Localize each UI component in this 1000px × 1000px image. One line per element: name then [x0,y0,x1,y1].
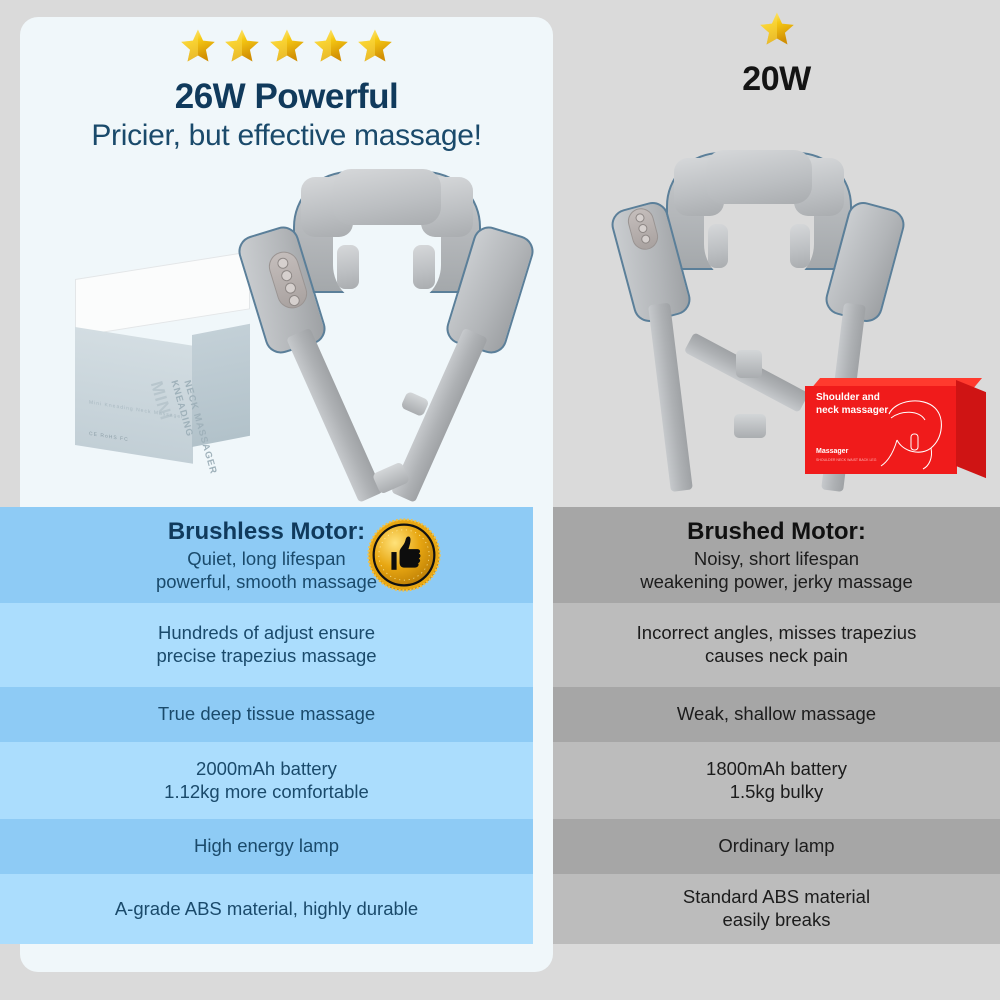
gold-star-icon [268,27,306,65]
product-box-right: Shoulder and neck massager Massager SHOU… [805,378,995,478]
row-text: A-grade ABS material, highly durable [99,898,434,921]
left-header: 26W Powerful Pricier, but effective mass… [20,27,553,153]
table-row: High energy lamp [0,819,533,874]
gold-star-icon [223,27,261,65]
heat-button[interactable] [284,281,298,295]
table-row: A-grade ABS material, highly durable [0,874,533,944]
row-text: Incorrect angles, misses trapezius cause… [621,622,933,667]
left-title: 26W Powerful [20,77,553,117]
row-text: Brushless Motor: Quiet, long lifespan po… [140,517,393,593]
right-star-rating [553,10,1000,56]
row-text: Hundreds of adjust ensure precise trapez… [140,622,392,667]
table-row: 2000mAh battery 1.12kg more comfortable [0,742,533,819]
table-row: Ordinary lamp [553,819,1000,874]
thumbs-up-badge-icon [367,518,441,592]
mode-button[interactable] [280,269,294,283]
power-button-right[interactable] [635,212,646,223]
table-row: True deep tissue massage [0,687,533,742]
row-text: High energy lamp [178,835,355,858]
right-title: 20W [553,60,1000,99]
row-text: Weak, shallow massage [661,703,892,726]
table-row: Brushed Motor: Noisy, short lifespan wea… [553,507,1000,603]
gold-star-icon [758,10,796,48]
gold-star-icon [179,27,217,65]
row-text: Brushed Motor: Noisy, short lifespan wea… [624,517,929,593]
row-text: 1800mAh battery 1.5kg bulky [690,758,863,803]
left-star-rating [20,27,553,73]
table-row: Standard ABS material easily breaks [553,874,1000,944]
gold-star-icon [312,27,350,65]
massager-device-left [245,167,535,512]
left-subtitle: Pricier, but effective massage! [20,119,553,153]
row-text: Ordinary lamp [702,835,850,858]
row-text: True deep tissue massage [142,703,391,726]
right-header: 20W [553,10,1000,99]
table-row: 1800mAh battery 1.5kg bulky [553,742,1000,819]
table-row: Brushless Motor: Quiet, long lifespan po… [0,507,533,603]
intensity-button[interactable] [287,294,301,308]
table-row: Weak, shallow massage [553,687,1000,742]
row-text: 2000mAh battery 1.12kg more comfortable [148,758,385,803]
heat-button-right[interactable] [640,234,651,245]
red-box-sub: Massager [816,448,848,455]
infographic-stage: 26W Powerful Pricier, but effective mass… [0,0,1000,1000]
mode-button-right[interactable] [637,223,648,234]
red-box-line-art [867,390,955,472]
comparison-right-column: Brushed Motor: Noisy, short lifespan wea… [553,507,1000,944]
power-button[interactable] [276,256,290,270]
table-row: Incorrect angles, misses trapezius cause… [553,603,1000,687]
table-row: Hundreds of adjust ensure precise trapez… [0,603,533,687]
row-text: Standard ABS material easily breaks [667,886,886,931]
gold-star-icon [356,27,394,65]
comparison-left-column: Brushless Motor: Quiet, long lifespan po… [0,507,533,944]
